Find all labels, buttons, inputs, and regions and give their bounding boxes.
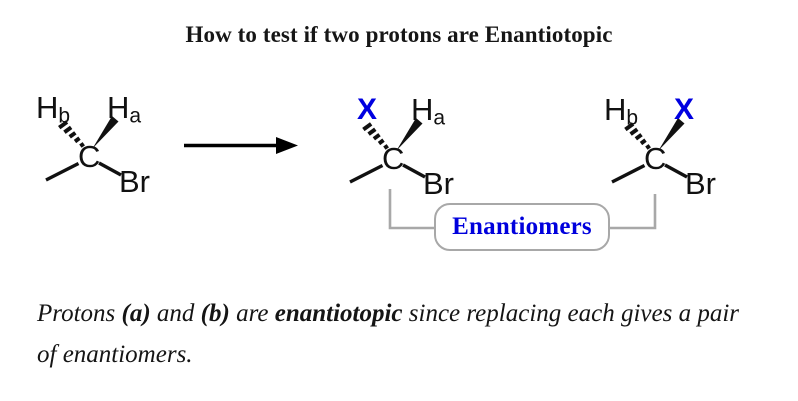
reactant-Hb-subscript: b <box>58 105 70 128</box>
reaction-arrow-shape <box>184 137 298 154</box>
caption-part-3: are <box>230 300 275 327</box>
product-right-label-X: X <box>674 95 694 125</box>
reactant-Ha-subscript: a <box>129 105 141 128</box>
caption-bold-a: (a) <box>122 300 151 327</box>
product-right-label-Hb: Hb <box>604 94 638 129</box>
figure-caption: Protons (a) and (b) are enantiotopic sin… <box>37 294 757 375</box>
product-left-label-Br: Br <box>423 168 454 199</box>
chemistry-figure: How to test if two protons are Enantioto… <box>0 0 798 401</box>
product-right-Hb-element: H <box>604 92 626 127</box>
enantiomers-label: Enantiomers <box>452 213 592 241</box>
reactant-bond-to-Br <box>99 163 121 175</box>
reactant-Hb-element: H <box>36 90 58 125</box>
product-left-bond-to-Br <box>403 165 425 177</box>
product-left-label-X: X <box>357 95 377 125</box>
reactant-label-C: C <box>78 141 100 172</box>
product-left-Ha-subscript: a <box>433 107 445 130</box>
caption-part-1: Protons <box>37 300 122 327</box>
caption-bold-enantiotopic: enantiotopic <box>275 300 403 327</box>
product-right-bond-methyl <box>612 166 645 183</box>
product-right-Hb-subscript: b <box>626 107 638 130</box>
product-right-label-Br: Br <box>685 168 716 199</box>
reactant-label-Hb: Hb <box>36 92 70 127</box>
product-left-Ha-element: H <box>411 92 433 127</box>
product-right-label-C: C <box>644 143 666 174</box>
caption-part-2: and <box>151 300 201 327</box>
enantiomers-box: Enantiomers <box>434 203 610 251</box>
reactant-bond-methyl <box>46 164 79 181</box>
reactant-Ha-element: H <box>107 90 129 125</box>
product-left-label-C: C <box>382 143 404 174</box>
product-left-label-Ha: Ha <box>411 94 445 129</box>
reactant-label-Ha: Ha <box>107 92 141 127</box>
product-left-bond-methyl <box>350 166 383 183</box>
figure-title: How to test if two protons are Enantioto… <box>0 22 798 48</box>
reactant-label-Br: Br <box>119 166 150 197</box>
caption-bold-b: (b) <box>201 300 230 327</box>
product-right-bond-to-Br <box>665 165 687 177</box>
